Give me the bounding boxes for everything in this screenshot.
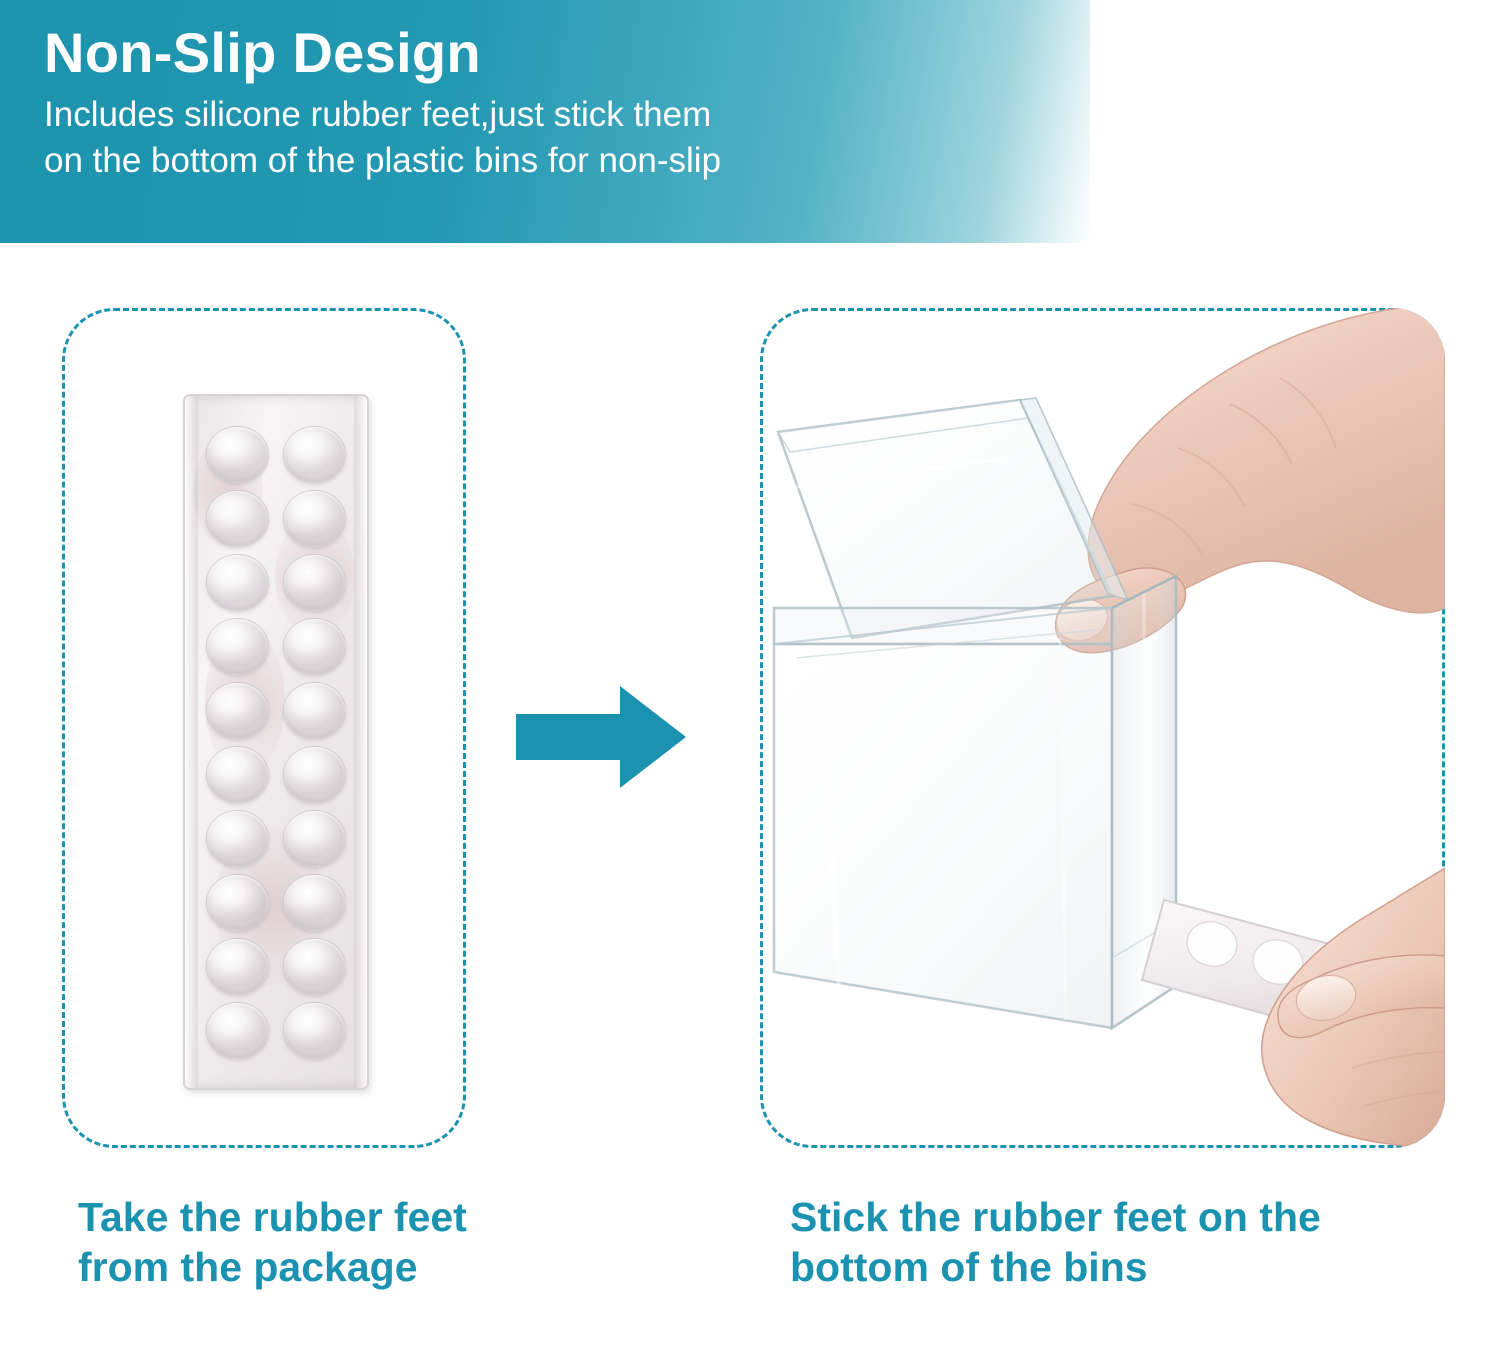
- rubber-foot: [206, 426, 269, 483]
- rubber-foot: [206, 554, 269, 611]
- rubber-foot: [206, 618, 269, 675]
- rubber-foot: [283, 426, 346, 483]
- rubber-foot: [283, 874, 346, 931]
- rubber-foot: [206, 682, 269, 739]
- sheet-right-edge: [354, 396, 367, 1088]
- rubber-foot: [206, 874, 269, 931]
- right-arrow-icon: [516, 686, 686, 788]
- rubber-foot: [206, 746, 269, 803]
- rubber-foot: [206, 1002, 269, 1059]
- banner-subtitle-line-1: Includes silicone rubber feet,just stick…: [44, 92, 1090, 138]
- rubber-foot: [206, 938, 269, 995]
- rubber-foot: [283, 810, 346, 867]
- rubber-foot: [206, 810, 269, 867]
- step-2-caption: Stick the rubber feet on the bottom of t…: [790, 1192, 1430, 1292]
- rubber-foot: [283, 682, 346, 739]
- step-1-caption: Take the rubber feet from the package: [78, 1192, 508, 1292]
- rubber-feet-grid: [199, 422, 353, 1062]
- rubber-feet-sheet-image: [183, 394, 369, 1090]
- rubber-foot: [206, 490, 269, 547]
- bin-and-feet-illustration: [760, 308, 1445, 1148]
- upper-hand: [1046, 308, 1445, 653]
- banner-subtitle-line-2: on the bottom of the plastic bins for no…: [44, 138, 1090, 184]
- rubber-foot: [283, 746, 346, 803]
- lower-hand: [1262, 868, 1445, 1147]
- rubber-foot: [283, 554, 346, 611]
- page-title: Non-Slip Design: [44, 18, 1090, 88]
- rubber-foot: [283, 490, 346, 547]
- header-banner: Non-Slip Design Includes silicone rubber…: [0, 0, 1090, 243]
- rubber-foot: [283, 1002, 346, 1059]
- sheet-left-edge: [185, 396, 198, 1088]
- rubber-foot: [283, 938, 346, 995]
- rubber-foot: [283, 618, 346, 675]
